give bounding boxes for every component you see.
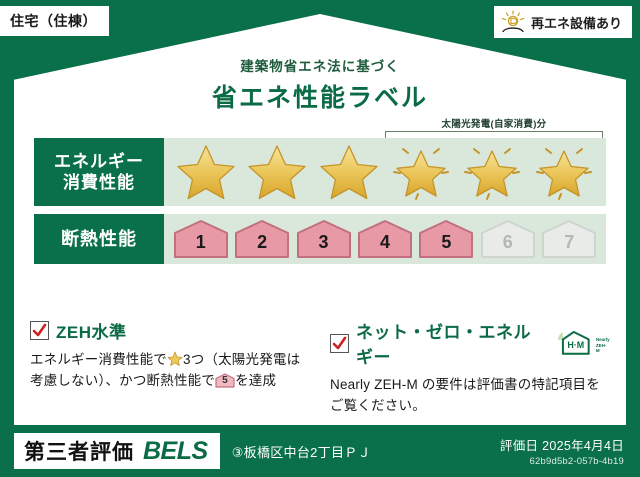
- solar-generation-bracket: 太陽光発電(自家消費)分: [385, 116, 603, 138]
- third-party-label: 第三者評価: [24, 436, 134, 466]
- criterion-text-post: を達成: [235, 373, 276, 388]
- criterion-header: ZEH水準: [30, 318, 310, 343]
- insulation-level-number: 6: [480, 232, 536, 253]
- energy-performance-label: エネルギー 消費性能: [34, 138, 164, 206]
- criterion-net-zero-energy: ネット・ゼロ・エネルギー H·M Nearly ZEH-M N: [330, 318, 610, 417]
- zeh-m-logo: H·M Nearly ZEH-M: [554, 330, 610, 356]
- page-title: 省エネ性能ラベル: [0, 78, 640, 114]
- footer-bar: 第三者評価 BELS ③板橋区中台2丁目ＰＪ 評価日 2025年4月4日 62b…: [0, 425, 640, 477]
- criterion-header: ネット・ゼロ・エネルギー H·M Nearly ZEH-M: [330, 318, 610, 368]
- criterion-title: ネット・ゼロ・エネルギー: [356, 318, 543, 368]
- insulation-level-number: 5: [418, 232, 474, 253]
- star-filled: [246, 143, 308, 201]
- zeh-m-house-icon: H·M: [554, 330, 594, 356]
- star-filled: [318, 143, 380, 201]
- renewable-equipment-badge: 再エネ設備あり: [494, 6, 632, 38]
- criteria-section: ZEH水準 エネルギー消費性能で3つ（太陽光発電は考慮しない）、かつ断熱性能で5…: [30, 318, 610, 417]
- insulation-level: 2: [234, 219, 290, 259]
- criterion-zeh-standard: ZEH水準 エネルギー消費性能で3つ（太陽光発電は考慮しない）、かつ断熱性能で5…: [30, 318, 310, 417]
- star-filled-solar: [461, 143, 523, 201]
- dwelling-type-tag: 住宅（住棟）: [0, 6, 109, 36]
- insulation-level-number: 1: [173, 232, 229, 253]
- insulation-performance-row: 断熱性能 1 2 3 4: [34, 214, 606, 264]
- star-icon-inline: [167, 351, 183, 366]
- criterion-text-pre: エネルギー消費性能で: [30, 352, 167, 367]
- criterion-body: エネルギー消費性能で3つ（太陽光発電は考慮しない）、かつ断熱性能で5を達成: [30, 350, 310, 392]
- energy-label-line2: 消費性能: [63, 172, 135, 193]
- sun-icon: [500, 10, 526, 34]
- zeh-m-logo-text: H·M: [568, 340, 585, 350]
- insulation-level: 5: [418, 219, 474, 259]
- checkbox-checked-icon: [330, 334, 349, 353]
- criterion-title: ZEH水準: [56, 318, 127, 343]
- evaluation-id: 62b9d5b2-057b-4b19: [500, 456, 624, 467]
- criterion-body: Nearly ZEH-M の要件は評価書の特記項目をご覧ください。: [330, 375, 610, 417]
- renewable-badge-text: 再エネ設備あり: [531, 13, 622, 32]
- zeh-m-logo-caption: Nearly ZEH-M: [596, 337, 610, 356]
- energy-performance-row: エネルギー 消費性能 太陽光発電(自家消費)分: [34, 138, 606, 206]
- bracket-line: [385, 131, 603, 138]
- insulation-level: 3: [296, 219, 352, 259]
- solar-bracket-caption: 太陽光発電(自家消費)分: [385, 116, 603, 130]
- star-filled: [175, 143, 237, 201]
- project-address: ③板橋区中台2丁目ＰＪ: [232, 442, 371, 461]
- star-filled-solar: [533, 143, 595, 201]
- criterion-text-stars: 3つ（太陽光発電: [183, 352, 287, 367]
- insulation-level-inactive: 6: [480, 219, 536, 259]
- bels-certification-box: 第三者評価 BELS: [14, 433, 220, 469]
- insulation-level-number: 3: [296, 232, 352, 253]
- dwelling-type-text: 住宅（住棟）: [10, 13, 97, 29]
- star-filled-solar: [390, 143, 452, 201]
- insulation-levels-container: 1 2 3 4 5: [164, 214, 606, 264]
- insulation-level: 4: [357, 219, 413, 259]
- grade-rows: エネルギー 消費性能 太陽光発電(自家消費)分: [34, 138, 606, 272]
- bels-logo-text: BELS: [143, 437, 208, 466]
- insulation-level-inactive: 7: [541, 219, 597, 259]
- energy-stars-container: 太陽光発電(自家消費)分: [164, 138, 606, 206]
- insulation-level-number: 2: [234, 232, 290, 253]
- evaluation-info: 評価日 2025年4月4日 62b9d5b2-057b-4b19: [500, 435, 624, 467]
- evaluation-date: 評価日 2025年4月4日: [500, 435, 624, 454]
- checkbox-checked-icon: [30, 321, 49, 340]
- title-subtitle: 建築物省エネ法に基づく: [0, 55, 640, 75]
- insulation-badge-number: 5: [215, 373, 235, 388]
- insulation-level: 1: [173, 219, 229, 259]
- zeh-m-caption-line2: ZEH-M: [596, 343, 607, 353]
- energy-performance-label: 住宅（住棟） 再エネ設備あり 建築物省エネ法に基づく 省エネ性能ラベル: [0, 0, 640, 477]
- insulation-performance-label: 断熱性能: [34, 214, 164, 264]
- insulation-level-number: 7: [541, 232, 597, 253]
- energy-label-line1: エネルギー: [54, 151, 144, 172]
- insulation-badge-icon: 5: [215, 373, 235, 388]
- title-block: 建築物省エネ法に基づく 省エネ性能ラベル: [0, 55, 640, 114]
- insulation-level-number: 4: [357, 232, 413, 253]
- insulation-label-line1: 断熱性能: [61, 228, 137, 251]
